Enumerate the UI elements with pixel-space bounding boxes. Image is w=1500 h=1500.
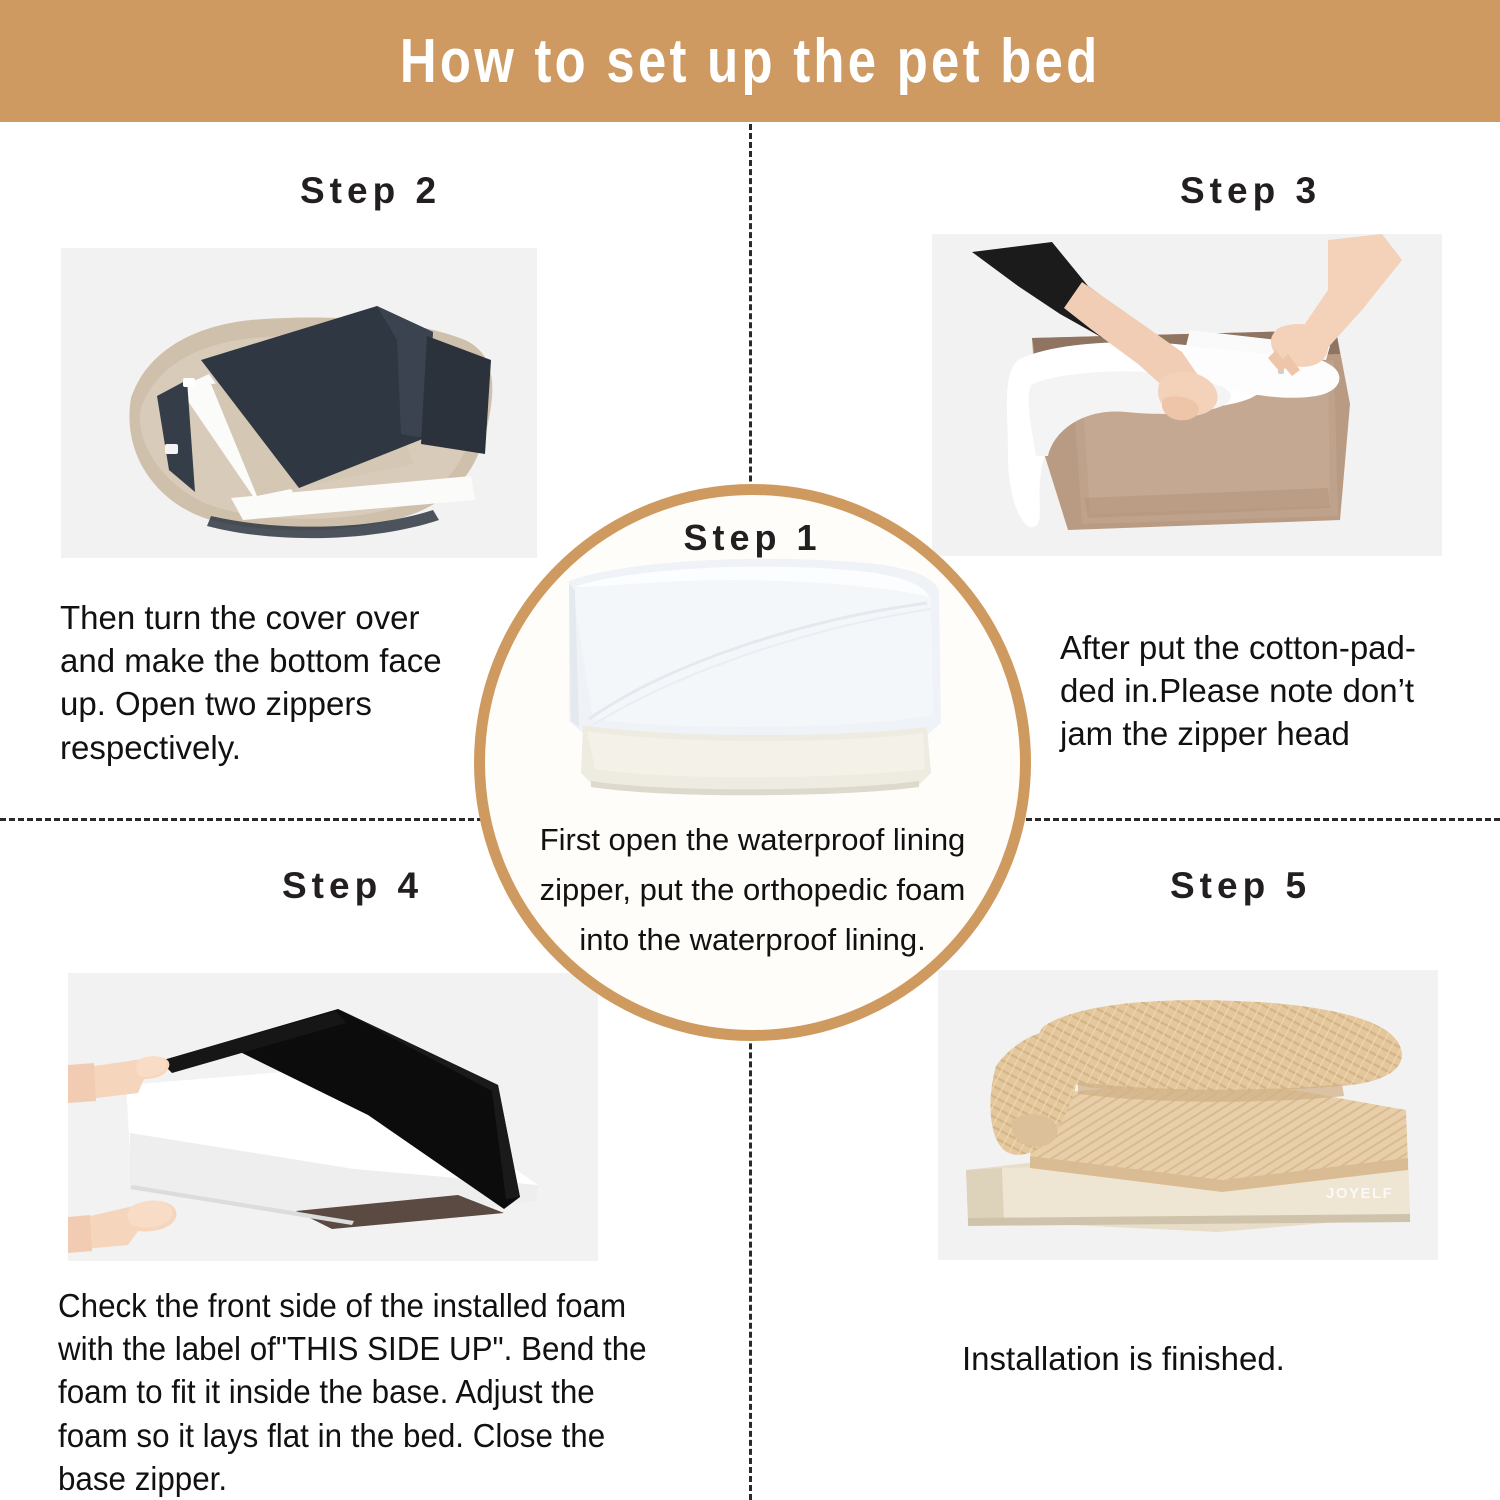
photo-step1	[553, 547, 953, 807]
svg-text:JOYELF: JOYELF	[1326, 1185, 1393, 1202]
photo-step5: JOYELF	[938, 970, 1438, 1260]
page-title: How to set up the pet bed	[400, 26, 1101, 97]
photo-step4	[68, 973, 598, 1261]
step-label-step5: Step 5	[1170, 865, 1311, 907]
caption-step4: Check the front side of the installed fo…	[58, 1284, 704, 1500]
caption-step5: Installation is finished.	[962, 1337, 1422, 1380]
step-label-step1: Step 1	[485, 517, 1020, 559]
header-banner: How to set up the pet bed	[0, 0, 1500, 122]
photo-step2	[61, 248, 537, 558]
step-label-step3: Step 3	[1180, 170, 1321, 212]
step-label-step2: Step 2	[300, 170, 441, 212]
step1-circle-callout: Step 1 First open the waterproof lini	[474, 484, 1031, 1041]
photo-step3	[932, 234, 1442, 556]
caption-step1: First open the waterproof lining zipper,…	[509, 815, 996, 966]
caption-step2: Then turn the cover over and make the bo…	[60, 596, 530, 769]
infographic-page: How to set up the pet bed Step 2	[0, 0, 1500, 1500]
step-label-step4: Step 4	[282, 865, 423, 907]
caption-step3: After put the cotton-pad- ded in.Please …	[1060, 626, 1465, 756]
